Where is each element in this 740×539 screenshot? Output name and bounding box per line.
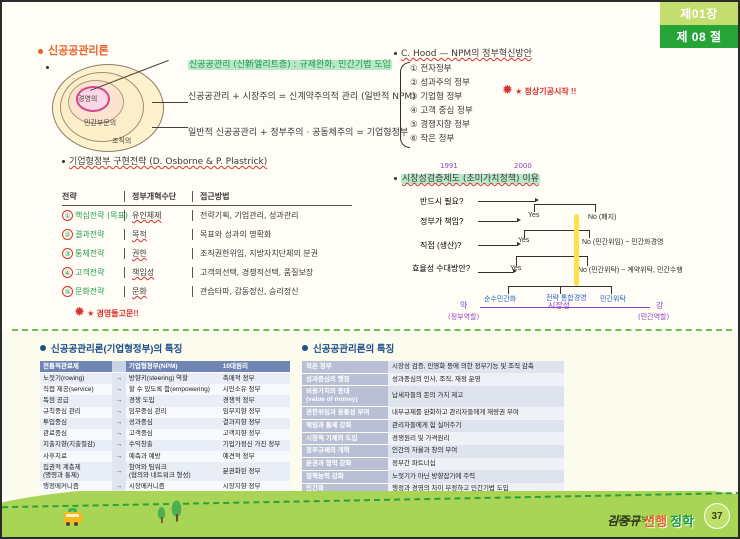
brand-author: 김중규 [607, 512, 640, 529]
cell-principle: 분권화된 정부 [220, 462, 290, 481]
row-number: ③ [62, 248, 73, 259]
note-line-1: 신공공관리 (신新엘리트층) : 규제완화, 민간기법 도입 [188, 57, 392, 70]
panel-bullet-icon [40, 345, 46, 351]
flow-yes-3: Yes [510, 265, 521, 272]
row-approach: 전략기획, 기업관리, 성과관리 [192, 210, 352, 221]
yellow-highlight-bar [574, 214, 579, 286]
flow-arrow-3 [478, 245, 518, 246]
cell-npm: 성과중심 [126, 418, 220, 429]
brand-name-2: 정학 [670, 511, 694, 530]
cell-principle: 경쟁적 정부 [220, 395, 290, 406]
flow-question-1: 반드시 필요? [420, 196, 463, 207]
list-item: ⑤ 경쟁지향 정부 [410, 118, 473, 132]
flow-yes-1: Yes [528, 212, 539, 219]
arrow-icon: → [112, 440, 126, 451]
venn-label-outer: 조직의 [112, 136, 131, 146]
cell-feature-value: 내부규제를 완화하고 관리자들에게 재량권 부여 [388, 407, 564, 420]
table-row: ①핵심전략 (목표) 유인체제 전략기획, 기업관리, 성과관리 [62, 206, 352, 225]
summary-panels: 신공공관리론(기업형정부)의 특징 전통적관료제 기업형정부(NPM) 10대원… [2, 331, 740, 497]
star-note-left: ✹ ★ 경영들고문!! [74, 304, 139, 320]
flow-question-4: 효율성 수대방안? [412, 264, 472, 274]
list-item: ② 성과주의 정부 [410, 76, 473, 90]
arrow-icon: → [112, 407, 126, 418]
row-approach: 조직권한위임, 지방자치단체의 분권 [192, 248, 352, 259]
cell-traditional: 규칙중심 관리 [40, 407, 112, 418]
cell-feature-key: 비용가치의 증대 (value of money) [302, 386, 388, 407]
note-line-3: 일반적 신공공관리 + 정부주의 · 공동체주의 = 기업형정부 [188, 125, 408, 138]
cell-traditional: 노젓기(rowing) [40, 373, 112, 385]
table-row: 정책능력 강화 노젓기가 아닌 방향잡기에 주력 [302, 470, 564, 483]
flow-branch-1 [534, 204, 596, 205]
npm-comparison-table: 전통적관료제 기업형정부(NPM) 10대원리 노젓기(rowing) → 방향… [40, 361, 290, 493]
row-name: 통제전략 [75, 249, 104, 258]
table-header-row: 전통적관료제 기업형정부(NPM) 10대원리 [40, 361, 290, 373]
cell-npm: 임무중심 관리 [126, 407, 220, 418]
table-row: 분권과 협력 강화 정부간 파트너십 [302, 458, 564, 471]
left-panel: 신공공관리론(기업형정부)의 특징 전통적관료제 기업형정부(NPM) 10대원… [40, 341, 290, 493]
flow-arrow-1 [478, 201, 536, 202]
page-footer: 그림으로 보는 김중규 선행 정학 37 [2, 491, 740, 537]
cell-traditional: 관료중심 [40, 429, 112, 440]
leader-line-3 [152, 127, 188, 128]
row-number: ① [62, 210, 73, 221]
handwritten-notes-area: 신공공관리론 경영의 민간부문의 조직의 신공공관리 (신新엘리트층) : 규제… [2, 2, 740, 332]
chapter-badge: 제01장 제 08 절 [660, 2, 738, 48]
flow-arrow-4 [478, 272, 514, 273]
arrow-icon: → [112, 384, 126, 395]
leader-line-2 [152, 102, 188, 103]
bus-icon [64, 512, 82, 523]
sub-bullet-icon-3 [394, 52, 397, 55]
table-row: ⑤문화전략 문화 관습타파, 감동정신, 승리정신 [62, 282, 352, 301]
chapter-number: 제01장 [660, 2, 738, 25]
cell-traditional: 투입중심 [40, 418, 112, 429]
row-name: 결과전략 [75, 230, 104, 239]
strategy-table-header: 전략 정부개혁수단 접근방법 [62, 187, 352, 206]
flow-question-2: 정부가 책임? [420, 216, 463, 227]
row-number: ④ [62, 267, 73, 278]
col-header-approach: 접근방법 [192, 191, 352, 202]
table-row: 지출지향(지출절감) → 수익창출 기업가정신 가진 정부 [40, 440, 290, 451]
panel-bullet-icon-2 [302, 345, 308, 351]
list-item: ⑥ 작은 정부 [410, 132, 473, 146]
cell-feature-value: 인간의 자율과 창의 부여 [388, 445, 564, 458]
tree-icon-1 [158, 507, 165, 523]
flow-arrowhead-2 [517, 218, 521, 222]
cell-feature-value: 경쟁원리 및 가격원리 [388, 432, 564, 445]
row-means: 문화 [124, 286, 192, 297]
section-number: 제 08 절 [660, 25, 738, 48]
table-row: 책임과 통제 강화 관리자들에게 힘 실어주기 [302, 420, 564, 433]
page-root: 제01장 제 08 절 신공공관리론 경영의 민간부문의 조직의 신공공관리 (… [0, 0, 740, 539]
th-spacer [112, 361, 126, 373]
cell-traditional: 독점 공급 [40, 395, 112, 406]
flow-outcome-1: 순수민간화 [484, 294, 516, 304]
flow-no-1: No (폐지) [588, 212, 616, 222]
concentric-circle-diagram: 경영의 민간부문의 조직의 [50, 60, 168, 155]
row-means: 목적 [124, 229, 192, 240]
table-row: 성과중심의 행정 성과중심의 인사, 조직, 재정 운영 [302, 373, 564, 386]
tree-trunk [175, 514, 177, 521]
table-row: 직접 제공(service) → 할 수 있도록 함(empowering) 시… [40, 384, 290, 395]
cell-npm: 참여와 팀워크 (협의와 네트워크 형성) [126, 462, 220, 481]
right-panel: 신공공관리론의 특징 작은 정부 시장성 검증, 민영화 등에 의한 정부기능 … [302, 341, 564, 496]
tree-icon-2 [172, 501, 181, 522]
row-means: 유인체제 [124, 210, 192, 221]
arrow-icon: → [112, 462, 126, 481]
market-year-left: 1991 [440, 162, 458, 170]
cell-npm: 고객중심 [126, 429, 220, 440]
col-header-strategy: 전략 [62, 191, 124, 202]
note-subheading: 기업형정부 구현전략 (D. Osborne & P. Plastrick) [62, 154, 267, 167]
market-year-right: 2000 [514, 162, 532, 170]
flow-outcome-3: 민간위탁 [600, 294, 626, 304]
cell-feature-key: 성과중심의 행정 [302, 373, 388, 386]
left-panel-title: 신공공관리론(기업형정부)의 특징 [40, 341, 290, 355]
flow-yes-2: Yes [518, 237, 529, 244]
cell-feature-key: 정부규제의 개혁 [302, 445, 388, 458]
cell-feature-key: 정책능력 강화 [302, 470, 388, 483]
table-row: 작은 정부 시장성 검증, 민영화 등에 의한 정부기능 및 조직 감축 [302, 361, 564, 373]
brace-bracket [400, 62, 410, 148]
table-row: 투입중심 → 성과중심 결과지향 정부 [40, 418, 290, 429]
flow-branch-2 [524, 230, 590, 231]
table-row: 사후치료 → 예측과 예방 예견적 정부 [40, 451, 290, 462]
cell-feature-value: 노젓기가 아닌 방향잡기에 주력 [388, 470, 564, 483]
flow-arrowhead-1 [535, 198, 539, 202]
arrow-icon: → [112, 395, 126, 406]
right-panel-title: 신공공관리론의 특징 [302, 341, 564, 355]
axis-left-sublabel: (정부역할) [448, 312, 479, 322]
cell-principle: 임무지향 정부 [220, 407, 290, 418]
note-title: 신공공관리론 [38, 42, 109, 58]
cell-npm: 할 수 있도록 함(empowering) [126, 384, 220, 395]
row-name: 문화전략 [75, 287, 104, 296]
hood-list: ① 전자정부 ② 성과주의 정부 ③ 기업형 정부 ④ 고객 중심 정부 ⑤ 경… [410, 62, 473, 146]
flow-stem-4a [508, 286, 509, 294]
venn-label-inner: 경영의 [78, 94, 97, 104]
table-row: ③통제전략 권한 조직권한위임, 지방자치단체의 분권 [62, 244, 352, 263]
cell-principle: 예견적 정부 [220, 451, 290, 462]
page-number: 37 [704, 503, 730, 529]
cell-feature-value: 시장성 검증, 민영화 등에 의한 정부기능 및 조직 감축 [388, 361, 564, 373]
arrow-icon: → [112, 429, 126, 440]
cell-traditional: 사후치료 [40, 451, 112, 462]
cell-principle: 촉매적 정부 [220, 373, 290, 385]
note-line-2: 신공공관리 + 시장주의 = 신계약주의적 관리 (일반적 NPM) [188, 89, 416, 102]
table-row: 독점 공급 → 경쟁 도입 경쟁적 정부 [40, 395, 290, 406]
cell-principle: 고객지향 정부 [220, 429, 290, 440]
table-row: 집권적 계층제 (명령과 통제) → 참여와 팀워크 (협의와 네트워크 형성)… [40, 462, 290, 481]
cell-npm: 방향키(steering) 역할 [126, 373, 220, 385]
cell-principle: 결과지향 정부 [220, 418, 290, 429]
axis-right-sublabel: (민간역할) [638, 312, 669, 322]
list-item: ③ 기업형 정부 [410, 90, 473, 104]
cell-feature-key: 분권과 협력 강화 [302, 458, 388, 471]
flow-arrow-2 [478, 221, 518, 222]
strategy-table: 전략 정부개혁수단 접근방법 ①핵심전략 (목표) 유인체제 전략기획, 기업관… [62, 187, 352, 301]
th-npm: 기업형정부(NPM) [126, 361, 220, 373]
row-approach: 관습타파, 감동정신, 승리정신 [192, 286, 352, 297]
list-item: ① 전자정부 [410, 62, 473, 76]
venn-label-middle: 민간부문의 [84, 118, 116, 128]
flow-stem-4c [611, 286, 612, 294]
cell-principle: 기업가정신 가진 정부 [220, 440, 290, 451]
tree-trunk [161, 517, 163, 523]
cell-feature-key: 책임과 통제 강화 [302, 420, 388, 433]
cell-traditional: 지출지향(지출절감) [40, 440, 112, 451]
star-icon-2: ✹ [502, 82, 513, 97]
table-row: 관료중심 → 고객중심 고객지향 정부 [40, 429, 290, 440]
table-row: 규칙중심 관리 → 임무중심 관리 임무지향 정부 [40, 407, 290, 418]
sub-bullet-icon-4 [394, 177, 397, 180]
flow-stem-1b [595, 204, 596, 212]
th-traditional: 전통적관료제 [40, 361, 112, 373]
brand-logo: 김중규 선행 정학 [607, 511, 694, 530]
row-means: 책임성 [124, 267, 192, 278]
arrow-icon: → [112, 418, 126, 429]
row-means: 권한 [124, 248, 192, 259]
npm-features-table: 작은 정부 시장성 검증, 민영화 등에 의한 정부기능 및 조직 감축 성과중… [302, 361, 564, 496]
row-approach: 목표와 성과의 명확화 [192, 229, 352, 240]
arrow-icon: → [112, 451, 126, 462]
cell-traditional: 직접 제공(service) [40, 384, 112, 395]
table-row: ④고객전략 책임성 고객의선택, 경쟁적선택, 품질보장 [62, 263, 352, 282]
cell-feature-value: 성과중심의 인사, 조직, 재정 운영 [388, 373, 564, 386]
table-row: 비용가치의 증대 (value of money) 납세자들의 돈의 가치 제고 [302, 386, 564, 407]
flow-question-3: 직접 (생산)? [420, 240, 461, 251]
arrow-icon: → [112, 373, 126, 385]
table-row: ②결과전략 목적 목표와 성과의 명확화 [62, 225, 352, 244]
cell-feature-value: 관리자들에게 힘 실어주기 [388, 420, 564, 433]
npm-table-body: 노젓기(rowing) → 방향키(steering) 역할 촉매적 정부 직접… [40, 373, 290, 493]
cell-npm: 예측과 예방 [126, 451, 220, 462]
sub-bullet-icon [46, 66, 49, 69]
axis-left-label: 약 [460, 300, 467, 311]
flow-no-3: No (민간위탁) ~ 계약위탁, 민간수행 [578, 265, 683, 275]
table-row: 권한위임과 융통성 부여 내부규제를 완화하고 관리자들에게 재량권 부여 [302, 407, 564, 420]
row-name: 고객전략 [75, 268, 104, 277]
cell-principle: 시민소유 정부 [220, 384, 290, 395]
row-approach: 고객의선택, 경쟁적선택, 품질보장 [192, 267, 352, 278]
cell-feature-value: 납세자들의 돈의 가치 제고 [388, 386, 564, 407]
cell-feature-key: 권한위임과 융통성 부여 [302, 407, 388, 420]
table-row: 노젓기(rowing) → 방향키(steering) 역할 촉매적 정부 [40, 373, 290, 385]
flow-no-2: No (민간위임) ~ 민간화경영 [582, 237, 664, 247]
row-name: 핵심전략 (목표) [75, 211, 128, 220]
axis-right-label: 강 [656, 300, 663, 311]
list-item: ④ 고객 중심 정부 [410, 104, 473, 118]
col-header-means: 정부개혁수단 [124, 191, 192, 202]
bullet-icon [38, 49, 43, 54]
market-heading: 시장성검증제도 (초미가치정책) 이유 [394, 171, 550, 184]
cell-feature-value: 정부간 파트너십 [388, 458, 564, 471]
brand-name-1: 선행 [643, 511, 667, 530]
flow-stem-1a [534, 204, 535, 212]
star-icon: ✹ [74, 304, 85, 319]
star-note-right: ✹ ★ 정상기공시작 !! [502, 82, 576, 98]
cell-traditional: 집권적 계층제 (명령과 통제) [40, 462, 112, 481]
row-number: ⑤ [62, 286, 73, 297]
th-principles: 10대원리 [220, 361, 290, 373]
axis-center-label: 시장성 [548, 300, 570, 311]
flow-stem-4b [560, 286, 561, 294]
row-number: ② [62, 229, 73, 240]
sub-bullet-icon-2 [62, 160, 65, 163]
table-row: 정부규제의 개혁 인간의 자율과 창의 부여 [302, 445, 564, 458]
cell-npm: 경쟁 도입 [126, 395, 220, 406]
table-row: 시장적 기제의 도입 경쟁원리 및 가격원리 [302, 432, 564, 445]
cell-npm: 수익창출 [126, 440, 220, 451]
cell-feature-key: 작은 정부 [302, 361, 388, 373]
hood-heading: C. Hood — NPM의 정부혁신방안 [394, 46, 532, 59]
cell-feature-key: 시장적 기제의 도입 [302, 432, 388, 445]
sprout-icon [70, 508, 76, 513]
